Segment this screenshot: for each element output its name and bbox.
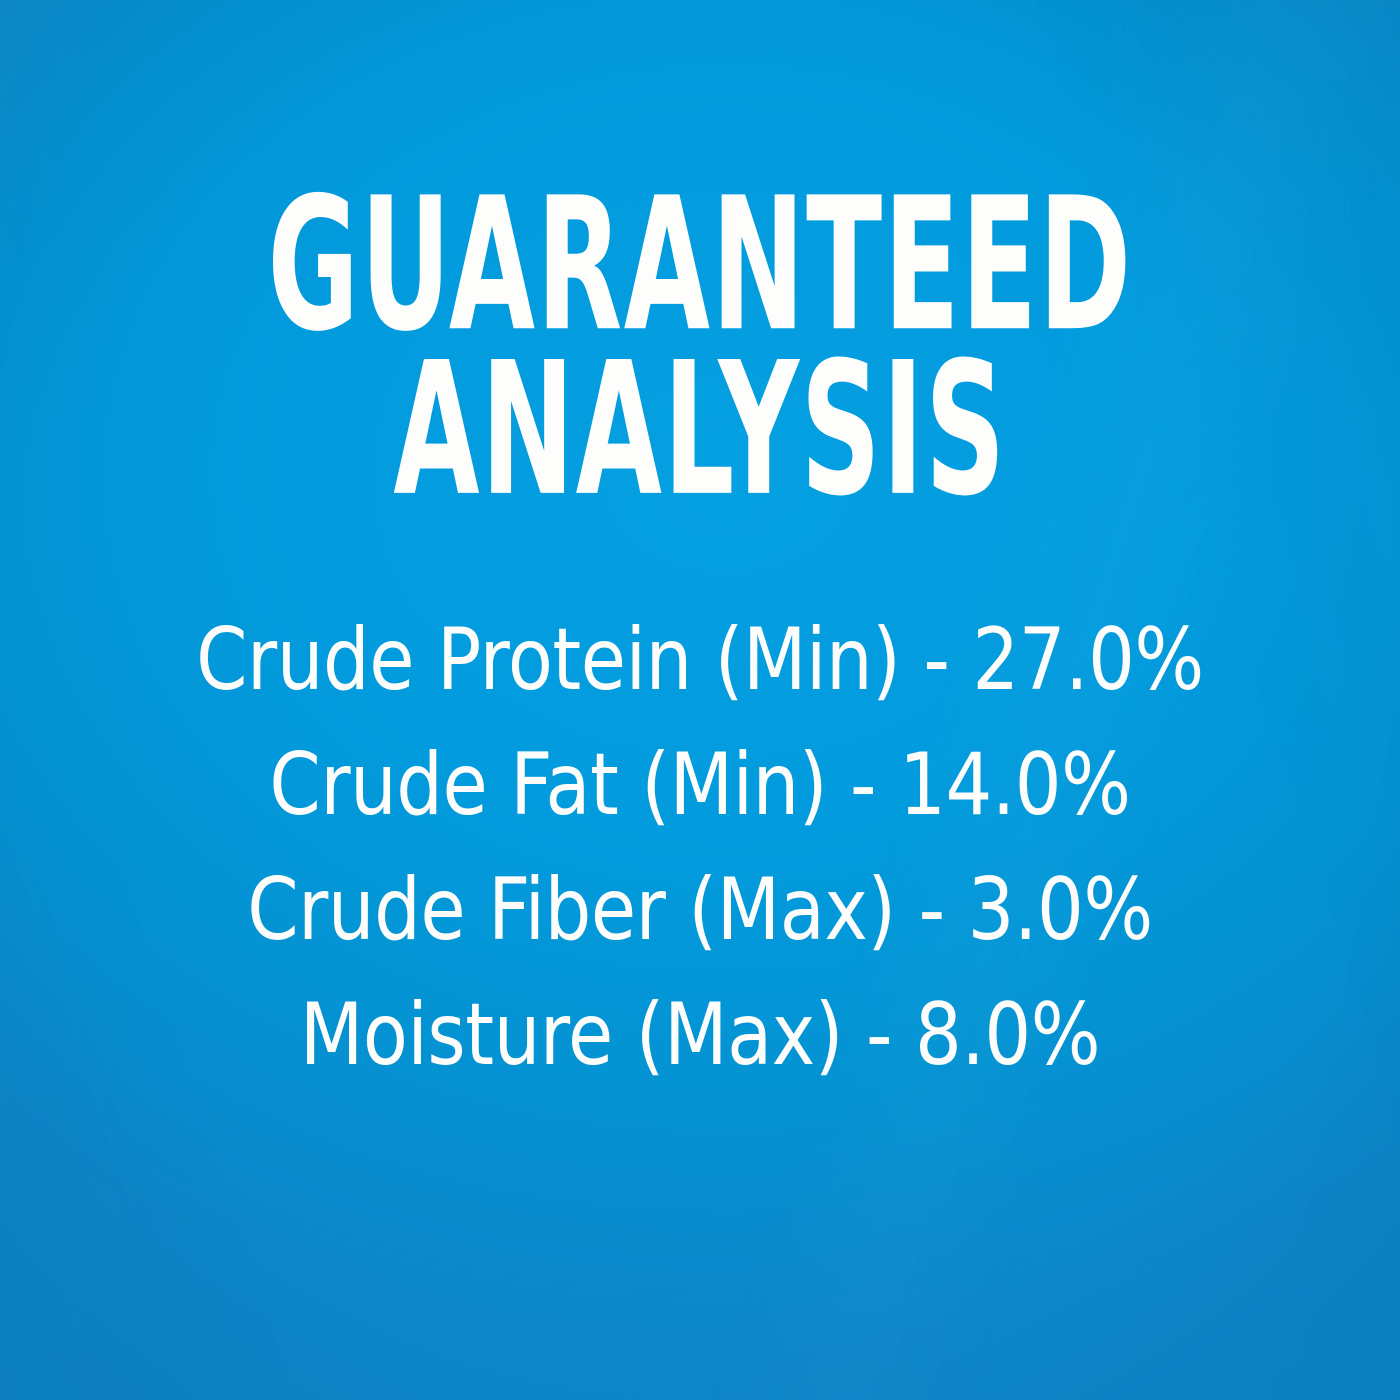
list-item: Crude Fiber (Max) - 3.0% [102, 848, 1299, 973]
panel-content: GUARANTEED ANALYSIS Crude Protein (Min) … [0, 0, 1400, 1400]
list-item: Moisture (Max) - 8.0% [102, 973, 1299, 1098]
list-item: Crude Protein (Min) - 27.0% [102, 598, 1299, 723]
analysis-list: Crude Protein (Min) - 27.0% Crude Fat (M… [0, 598, 1400, 1098]
guaranteed-analysis-panel: GUARANTEED ANALYSIS Crude Protein (Min) … [0, 0, 1400, 1400]
list-item: Crude Fat (Min) - 14.0% [102, 723, 1299, 848]
page-title-line-2: ANALYSIS [224, 351, 1176, 509]
page-title-line-1: GUARANTEED [224, 186, 1176, 344]
page-title: GUARANTEED ANALYSIS [224, 186, 1176, 509]
